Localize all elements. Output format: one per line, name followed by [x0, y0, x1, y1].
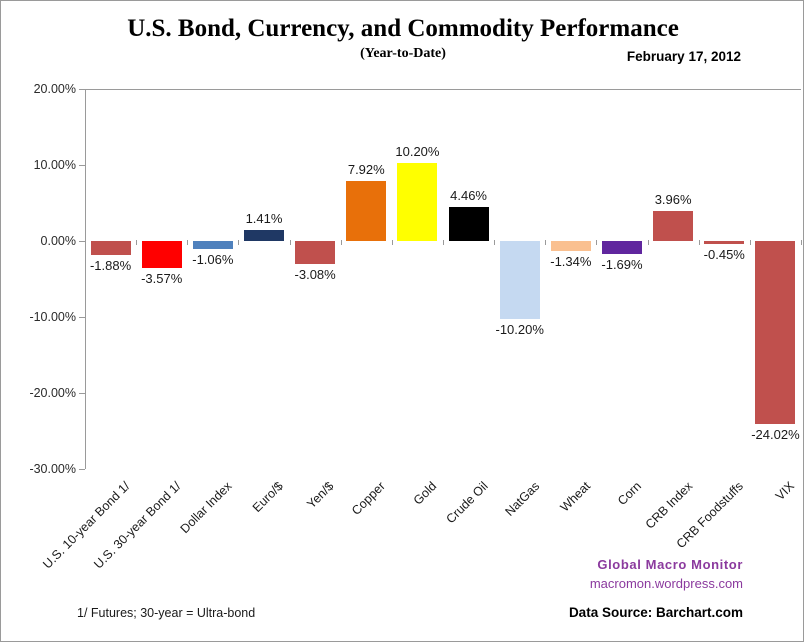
x-axis-tick	[699, 240, 700, 245]
y-axis-tick	[79, 165, 85, 166]
credit-name: Global Macro Monitor	[597, 557, 743, 572]
x-axis-tick	[136, 240, 137, 245]
bar	[449, 207, 489, 241]
x-axis-category-label: Yen/$	[304, 479, 336, 511]
bar	[193, 241, 233, 249]
bar-value-label: -3.08%	[270, 267, 360, 282]
y-axis-tick-label: 10.00%	[34, 158, 76, 172]
bar	[346, 181, 386, 241]
y-axis-tick-label: -10.00%	[29, 310, 76, 324]
x-axis-category-label: Wheat	[557, 479, 592, 514]
x-axis-tick	[648, 240, 649, 245]
bar	[704, 241, 744, 244]
x-axis-category-label: Euro/$	[250, 479, 286, 515]
x-axis-tick	[750, 240, 751, 245]
bar	[91, 241, 131, 255]
bar	[551, 241, 591, 251]
chart-date: February 17, 2012	[627, 49, 741, 64]
bar-value-label: 1.41%	[219, 211, 309, 226]
bar	[653, 211, 693, 241]
y-axis-tick	[79, 393, 85, 394]
x-axis-category-label: U.S. 10-year Bond 1/	[40, 479, 132, 571]
x-axis-tick	[545, 240, 546, 245]
bar-value-label: -1.06%	[168, 252, 258, 267]
bar-value-label: 3.96%	[628, 192, 718, 207]
data-source-label: Data Source: Barchart.com	[569, 605, 743, 620]
chart-page: U.S. Bond, Currency, and Commodity Perfo…	[0, 0, 804, 642]
x-axis-tick	[85, 240, 86, 245]
footnote: 1/ Futures; 30-year = Ultra-bond	[77, 606, 255, 620]
bar	[755, 241, 795, 424]
x-axis-tick	[801, 240, 802, 245]
y-axis-line	[85, 89, 86, 469]
x-axis-tick	[596, 240, 597, 245]
bar	[602, 241, 642, 254]
x-axis-category-label: CRB Index	[643, 479, 696, 532]
bar-value-label: 10.20%	[372, 144, 462, 159]
bar	[244, 230, 284, 241]
x-axis-category-label: Crude Oil	[443, 479, 490, 526]
x-axis-category-label: Dollar Index	[177, 479, 234, 536]
x-axis-tick	[443, 240, 444, 245]
bar-value-label: -1.69%	[577, 257, 667, 272]
y-axis-tick-label: -30.00%	[29, 462, 76, 476]
bar-value-label: -3.57%	[117, 271, 207, 286]
y-axis-tick-label: -20.00%	[29, 386, 76, 400]
x-axis-category-label: U.S. 30-year Bond 1/	[91, 479, 183, 571]
x-axis-category-label: VIX	[773, 479, 797, 503]
bar-value-label: 4.46%	[424, 188, 514, 203]
y-axis-tick-label: 0.00%	[41, 234, 76, 248]
x-axis-tick	[341, 240, 342, 245]
plot-area: 20.00%10.00%0.00%-10.00%-20.00%-30.00% -…	[85, 89, 801, 469]
x-axis-category-label: Corn	[615, 479, 644, 508]
y-axis-tick	[79, 469, 85, 470]
x-axis-category-label: NatGas	[502, 479, 542, 519]
x-axis-tick	[494, 240, 495, 245]
credit-url: macromon.wordpress.com	[590, 576, 743, 591]
y-axis-tick-label: 20.00%	[34, 82, 76, 96]
bar	[295, 241, 335, 264]
bar	[500, 241, 540, 319]
y-axis-tick	[79, 317, 85, 318]
x-axis-tick	[238, 240, 239, 245]
x-axis-tick	[392, 240, 393, 245]
page-title: U.S. Bond, Currency, and Commodity Perfo…	[1, 15, 804, 43]
y-axis-tick	[79, 89, 85, 90]
x-axis-category-label: Copper	[349, 479, 388, 518]
x-axis-category-label: Gold	[411, 479, 440, 508]
bar-value-label: -10.20%	[475, 322, 565, 337]
bar-value-label: -24.02%	[730, 427, 804, 442]
x-axis-tick	[290, 240, 291, 245]
x-axis-zero-line	[85, 89, 801, 90]
x-axis-tick	[187, 240, 188, 245]
